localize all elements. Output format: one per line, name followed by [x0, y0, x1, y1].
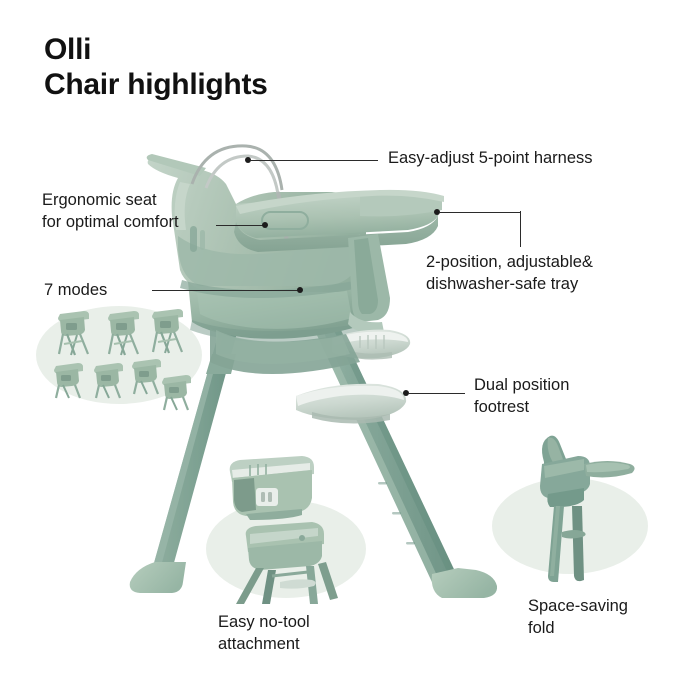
brand-name: Olli: [44, 32, 268, 67]
callout-harness: Easy-adjust 5-point harness: [388, 148, 593, 170]
leader-line-tray-horizontal: [439, 212, 520, 213]
mode-chair-2: [108, 311, 139, 355]
mode-chair-3: [152, 309, 183, 353]
attachment-seat-module: [230, 456, 314, 520]
leader-dot-7-modes: [297, 287, 303, 293]
leader-dot-ergonomic-seat: [262, 222, 268, 228]
callout-7-modes: 7 modes: [44, 280, 107, 302]
page-subtitle: Chair highlights: [44, 67, 268, 102]
folded-chair: [540, 436, 635, 582]
callout-no-tool-attachment: Easy no-tool attachment: [218, 612, 310, 656]
vignette-no-tool-attachment: [206, 452, 376, 607]
callout-tray: 2-position, adjustable& dishwasher-safe …: [426, 252, 593, 296]
mode-chair-6: [132, 359, 161, 394]
leader-line-7-modes: [152, 290, 298, 291]
infographic-canvas: Olli Chair highlights: [0, 0, 679, 679]
callout-space-saving-fold: Space-saving fold: [528, 596, 628, 640]
mode-chair-1: [58, 311, 89, 355]
leader-line-ergonomic-seat: [216, 225, 263, 226]
leader-line-harness: [250, 160, 378, 161]
vignette-7-modes: [36, 300, 206, 412]
mode-chair-7: [162, 375, 191, 410]
leader-line-footrest: [408, 393, 465, 394]
page-title: Olli Chair highlights: [44, 32, 268, 103]
mode-chair-5: [94, 363, 123, 398]
attachment-base-frame: [236, 522, 338, 604]
callout-dual-footrest: Dual position footrest: [474, 375, 569, 419]
callout-ergonomic-seat: Ergonomic seat for optimal comfort: [42, 190, 179, 234]
leader-line-tray-vertical: [520, 211, 521, 247]
footrest-lower: [296, 384, 406, 424]
mode-chair-4: [54, 363, 83, 398]
vignette-space-saving-fold: [492, 428, 658, 588]
